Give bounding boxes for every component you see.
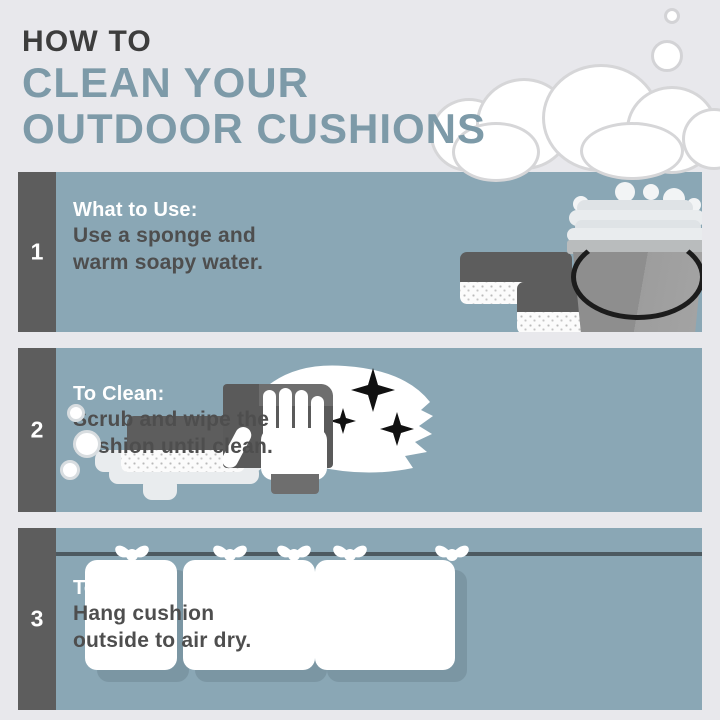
step-row-2: 2 To Clean: Scrub and wipe the cushion u… — [18, 348, 702, 512]
infographic-canvas: HOW TO CLEAN YOUR OUTDOOR CUSHIONS — [0, 0, 720, 720]
step-2-text: To Clean: Scrub and wipe the cushion unt… — [73, 382, 273, 461]
foam-puff — [542, 64, 660, 172]
bucket — [567, 182, 702, 332]
bucket-handle — [571, 234, 702, 320]
header-title-line2: OUTDOOR CUSHIONS — [22, 108, 486, 150]
step-2-subtitle: To Clean: — [73, 382, 273, 407]
soap-bubble — [60, 460, 80, 480]
soap-bubble — [651, 40, 683, 72]
glove-cuff — [271, 474, 319, 494]
cushion-tie-knot — [429, 538, 475, 568]
step-1-subtitle: What to Use: — [73, 198, 263, 223]
foam-puff — [626, 86, 718, 174]
step-row-3: 3 To Dry: Hang cushion outside to air dr… — [18, 528, 702, 710]
soap-bubble — [664, 8, 680, 24]
step-2-body-2: cushion until clean. — [73, 434, 273, 461]
step-2-body-1: Scrub and wipe the — [73, 407, 273, 434]
sponge-suds-drip — [143, 476, 177, 500]
step-1-text: What to Use: Use a sponge and warm soapy… — [73, 198, 263, 277]
soap-bubble — [73, 430, 101, 458]
foam-puff — [476, 78, 572, 170]
header-title-line1: CLEAN YOUR — [22, 62, 486, 104]
foam-puff — [682, 108, 720, 170]
step-3-number: 3 — [18, 606, 56, 633]
page-header: HOW TO CLEAN YOUR OUTDOOR CUSHIONS — [22, 26, 486, 150]
step-1-body-2: warm soapy water. — [73, 250, 263, 277]
step-3-body-2: outside to air dry. — [73, 628, 251, 655]
step-3-subtitle: To Dry: — [73, 576, 251, 601]
cushion-tie-knot — [207, 538, 253, 568]
cushion-tie-knot — [109, 538, 155, 568]
step-3-text: To Dry: Hang cushion outside to air dry. — [73, 576, 251, 655]
header-kicker: HOW TO — [22, 26, 486, 58]
step-1-number: 1 — [18, 239, 56, 266]
step-row-1: 1 What to Use: Use a sponge and warm soa… — [18, 172, 702, 332]
cushion-tie-knot — [327, 538, 373, 568]
soap-bubble — [67, 404, 85, 422]
cushion-tie-knot — [271, 538, 317, 568]
step-3-body-1: Hang cushion — [73, 601, 251, 628]
sponge-upper-top — [460, 252, 572, 282]
hanging-cushion — [315, 560, 455, 670]
step-1-body-1: Use a sponge and — [73, 223, 263, 250]
step-2-number: 2 — [18, 417, 56, 444]
bucket-sud-bubble — [643, 184, 659, 200]
bucket-sud-bubble — [615, 182, 635, 202]
